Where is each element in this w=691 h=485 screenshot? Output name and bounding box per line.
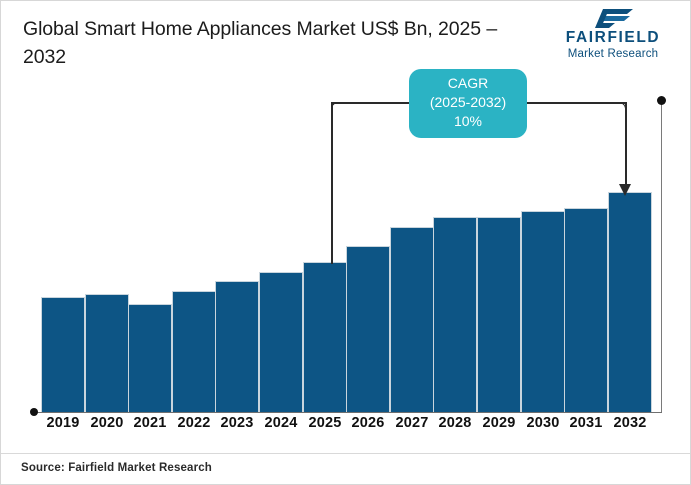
page-title: Global Smart Home Appliances Market US$ …: [23, 15, 543, 71]
bar-rect: [608, 192, 652, 412]
bar-rect: [259, 272, 303, 412]
callout-leader-left-horizontal: [332, 102, 410, 104]
logo-tagline: Market Research: [552, 47, 674, 61]
bar-rect: [41, 297, 85, 412]
fairfield-f-mark-icon: [593, 9, 633, 28]
cagr-value: 10%: [409, 112, 527, 131]
callout-arrow-head-icon: [619, 184, 631, 196]
bar-rect: [128, 304, 172, 412]
right-axis-line: [661, 100, 662, 412]
chart-card: Global Smart Home Appliances Market US$ …: [0, 0, 691, 485]
bar-rect: [390, 227, 434, 412]
right-axis-marker: [657, 96, 666, 105]
cagr-callout: CAGR (2025-2032) 10%: [409, 69, 527, 138]
bar-rect: [477, 217, 521, 412]
cagr-label: CAGR: [409, 74, 527, 93]
footer-divider: [1, 453, 691, 454]
bar-rect: [564, 208, 608, 412]
bar-rect: [521, 211, 565, 412]
callout-leader-left-vertical: [331, 102, 333, 264]
x-axis-line: [34, 412, 662, 413]
callout-leader-right-vertical: [625, 102, 627, 186]
x-tick-label-2032: 2032: [604, 415, 656, 431]
bar-rect: [85, 294, 129, 412]
bar-rect: [346, 246, 390, 412]
logo-wordmark: FAIRFIELD: [552, 30, 674, 46]
bar-series: [41, 93, 653, 412]
bar-rect: [433, 217, 477, 412]
bar-rect: [303, 262, 347, 412]
bar-rect: [172, 291, 216, 412]
source-note: Source: Fairfield Market Research: [21, 462, 212, 474]
brand-logo: FAIRFIELD Market Research: [552, 9, 674, 61]
callout-leader-right-horizontal: [527, 102, 626, 104]
x-axis-labels: 2019202020212022202320242025202620272028…: [41, 415, 653, 441]
cagr-period: (2025-2032): [409, 93, 527, 112]
bar-rect: [215, 281, 259, 412]
callout-leader-left-corner: [331, 102, 339, 110]
